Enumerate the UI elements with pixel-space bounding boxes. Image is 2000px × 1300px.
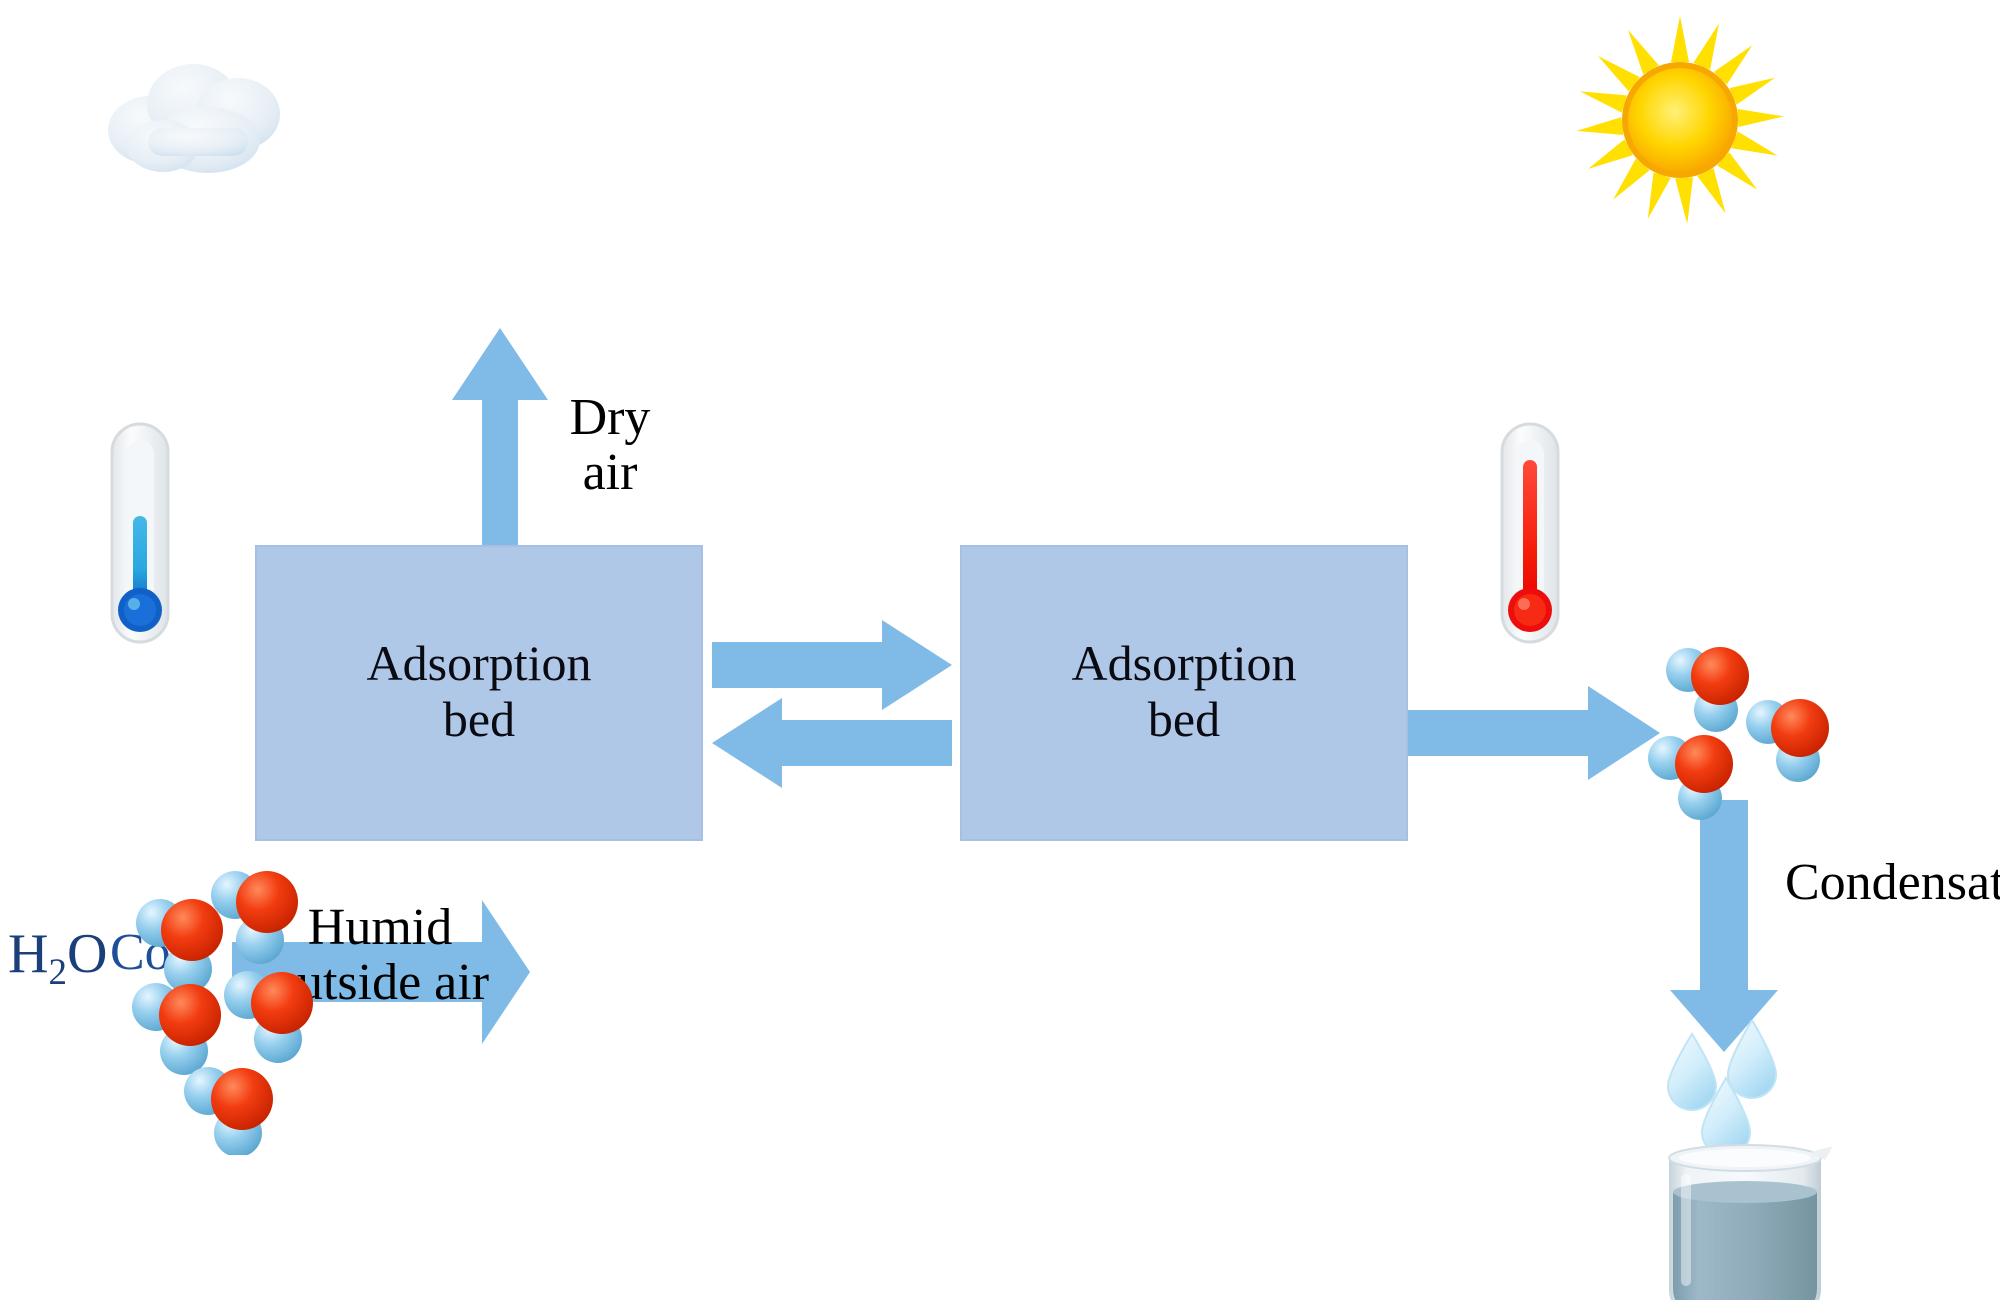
bed-transfer-arrow — [712, 620, 952, 710]
water-molecule-icon — [136, 899, 223, 993]
beaker-icon — [1655, 1140, 1835, 1300]
vapor-outlet-arrow — [1408, 686, 1660, 780]
dry-air-label-line2: air — [583, 444, 638, 501]
condensate-label: Condensate — [1785, 855, 2000, 910]
dry-air-label-line1: Dry — [570, 389, 651, 446]
adsorption-bed-left-line2: bed — [443, 691, 515, 747]
water-molecule-icon — [184, 1067, 273, 1155]
left-water-cluster — [60, 855, 360, 1155]
adsorption-bed-right-line1: Adsorption — [1072, 635, 1297, 691]
water-molecule-icon — [224, 971, 313, 1063]
adsorption-bed-right-line2: bed — [1148, 691, 1220, 747]
bed-return-arrow — [712, 698, 952, 788]
water-molecule-icon — [1648, 735, 1733, 820]
diagram-canvas: Cold Hot — [0, 0, 2000, 1300]
water-droplet-icon — [1728, 1020, 1776, 1098]
h2o-h: H — [8, 923, 48, 985]
right-water-cluster — [1640, 630, 1920, 860]
water-molecule-icon — [132, 983, 221, 1075]
adsorption-bed-left[interactable]: Adsorptionbed — [255, 545, 703, 841]
adsorption-bed-left-line1: Adsorption — [367, 635, 592, 691]
dry-air-label: Dryair — [520, 390, 700, 500]
adsorption-bed-left-label: Adsorptionbed — [257, 635, 701, 747]
water-molecule-icon — [1746, 699, 1829, 782]
water-molecule-icon — [211, 871, 298, 964]
adsorption-bed-right[interactable]: Adsorptionbed — [960, 545, 1408, 841]
adsorption-bed-right-label: Adsorptionbed — [962, 635, 1406, 747]
water-molecule-icon — [1666, 647, 1749, 732]
water-droplet-icon — [1668, 1034, 1716, 1110]
